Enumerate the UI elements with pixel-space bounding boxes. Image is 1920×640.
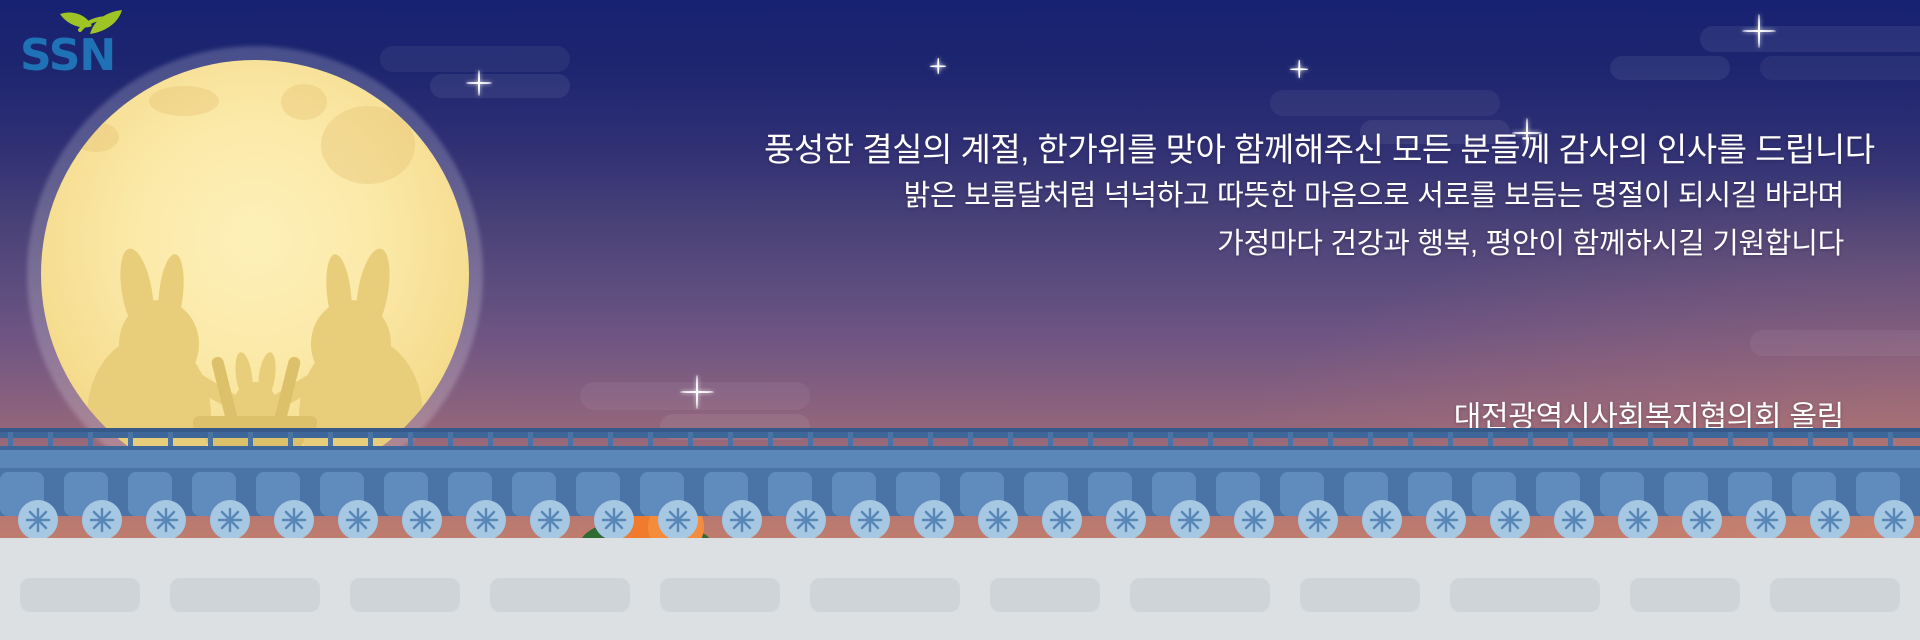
korean-roof-tile-wall bbox=[0, 428, 1920, 640]
sparkle-star-icon bbox=[1290, 60, 1308, 78]
greeting-message: 풍성한 결실의 계절, 한가위를 맞아 함께해주신 모든 분들께 감사의 인사를… bbox=[764, 128, 1844, 268]
moon-crater bbox=[149, 86, 219, 116]
sparkle-star-icon bbox=[1742, 14, 1776, 48]
greeting-line-3: 가정마다 건강과 행복, 평안이 함께하시길 기원합니다 bbox=[764, 220, 1844, 268]
moon-crater bbox=[73, 122, 119, 152]
ssn-logo-text: SSN bbox=[20, 30, 150, 81]
moon-crater bbox=[281, 84, 327, 120]
holiday-greeting-banner: 풍성한 결실의 계절, 한가위를 맞아 함께해주신 모든 분들께 감사의 인사를… bbox=[0, 0, 1920, 640]
sparkle-star-icon bbox=[680, 375, 714, 409]
cloud-shape bbox=[1610, 56, 1730, 80]
cloud-shape bbox=[1270, 90, 1500, 116]
cloud-shape bbox=[1760, 56, 1920, 80]
ssn-logo[interactable]: SSN bbox=[20, 8, 150, 88]
cloud-shape bbox=[1700, 26, 1920, 52]
cloud-shape bbox=[1750, 330, 1920, 356]
greeting-line-1: 풍성한 결실의 계절, 한가위를 맞아 함께해주신 모든 분들께 감사의 인사를… bbox=[764, 128, 1844, 172]
sparkle-star-icon bbox=[930, 58, 946, 74]
moon-disc bbox=[41, 60, 469, 488]
greeting-line-2: 밝은 보름달처럼 넉넉하고 따뜻한 마음으로 서로를 보듬는 명절이 되시길 바… bbox=[764, 172, 1844, 220]
